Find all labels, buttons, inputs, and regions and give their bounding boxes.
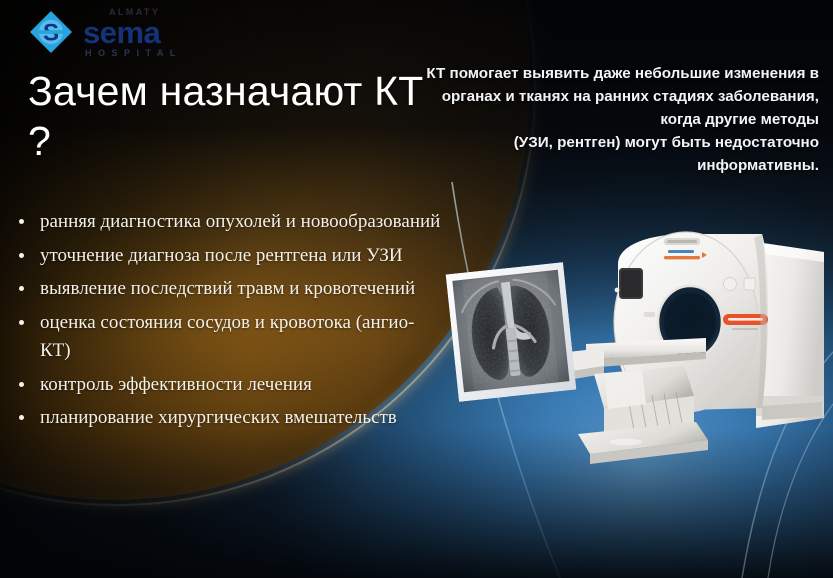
slide-root: S ALMATY sema HOSPITAL Зачем назначают К… xyxy=(0,0,833,578)
list-item: контроль эффективности лечения xyxy=(14,371,444,399)
list-item: планирование хирургических вмешательств xyxy=(14,404,444,432)
sema-diamond-icon: S xyxy=(28,9,74,55)
logo-name: sema xyxy=(83,18,182,47)
chest-ct-film xyxy=(446,262,577,402)
ct-scanner-image xyxy=(556,228,833,488)
intro-line: (УЗИ, рентген) могут быть недостаточно xyxy=(367,131,819,154)
list-item: ранняя диагностика опухолей и новообразо… xyxy=(14,208,444,236)
list-item: выявление последствий травм и кровотечен… xyxy=(14,275,444,303)
indications-list: ранняя диагностика опухолей и новообразо… xyxy=(14,208,444,438)
intro-paragraph: КТ помогает выявить даже небольшие измен… xyxy=(367,62,819,177)
brand-logo: S ALMATY sema HOSPITAL xyxy=(28,6,182,58)
list-item: оценка состояния сосудов и кровотока (ан… xyxy=(14,309,444,364)
intro-line: КТ помогает выявить даже небольшие измен… xyxy=(367,62,819,85)
intro-line: органах и тканях на ранних стадиях забол… xyxy=(367,85,819,108)
intro-line: когда другие методы xyxy=(367,108,819,131)
logo-subtitle: HOSPITAL xyxy=(85,49,182,58)
list-item: уточнение диагноза после рентгена или УЗ… xyxy=(14,242,444,270)
intro-line: информативны. xyxy=(367,154,819,177)
